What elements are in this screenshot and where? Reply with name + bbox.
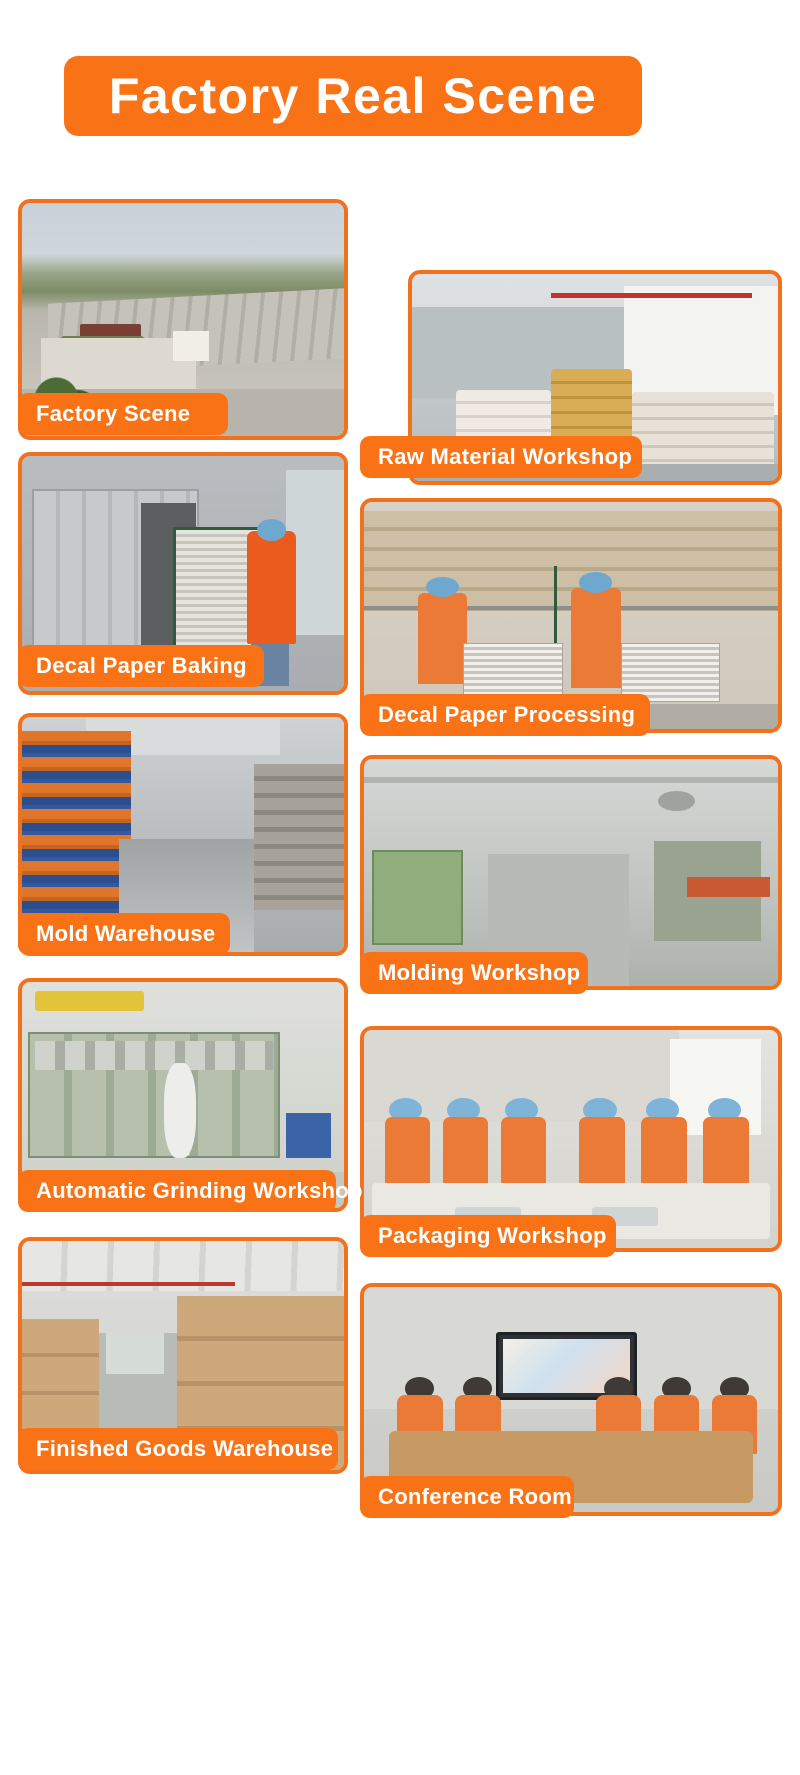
card-label-automatic-grinding-workshop: Automatic Grinding Workshop	[18, 1170, 336, 1212]
card-label-text: Packaging Workshop	[378, 1225, 607, 1247]
card-label-mold-warehouse: Mold Warehouse	[18, 913, 230, 955]
card-label-text: Raw Material Workshop	[378, 446, 632, 468]
card-label-raw-material-workshop: Raw Material Workshop	[360, 436, 642, 478]
page-title-banner: Factory Real Scene	[64, 56, 642, 136]
card-label-conference-room: Conference Room	[360, 1476, 574, 1518]
factory-gallery-page: Factory Real Scene Factory Scene Raw Mat…	[0, 0, 800, 1775]
card-label-finished-goods-warehouse: Finished Goods Warehouse	[18, 1428, 338, 1470]
card-label-packaging-workshop: Packaging Workshop	[360, 1215, 616, 1257]
card-label-text: Conference Room	[378, 1486, 572, 1508]
card-label-text: Decal Paper Baking	[36, 655, 247, 677]
card-label-text: Mold Warehouse	[36, 923, 215, 945]
card-label-factory-scene: Factory Scene	[18, 393, 228, 435]
card-label-text: Decal Paper Processing	[378, 704, 635, 726]
card-label-text: Molding Workshop	[378, 962, 580, 984]
card-label-decal-paper-processing: Decal Paper Processing	[360, 694, 650, 736]
card-label-molding-workshop: Molding Workshop	[360, 952, 588, 994]
card-label-decal-paper-baking: Decal Paper Baking	[18, 645, 264, 687]
card-label-text: Finished Goods Warehouse	[36, 1438, 333, 1460]
card-label-text: Factory Scene	[36, 403, 190, 425]
card-label-text: Automatic Grinding Workshop	[36, 1180, 363, 1202]
page-title: Factory Real Scene	[109, 71, 597, 121]
